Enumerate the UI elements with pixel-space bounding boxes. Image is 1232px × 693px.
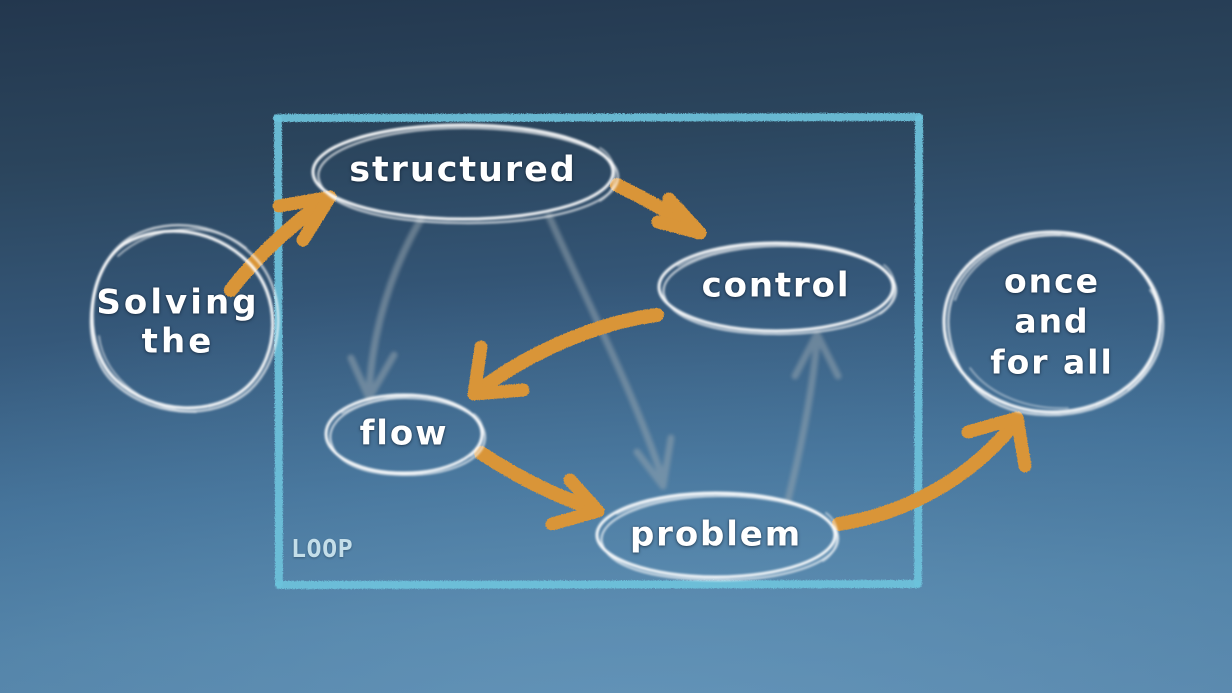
node-once[interactable] bbox=[944, 232, 1163, 415]
edge-flow-to-problem bbox=[481, 453, 598, 524]
edge-structured-to-problem bbox=[549, 216, 671, 486]
node-structured[interactable] bbox=[313, 125, 618, 223]
node-problem[interactable] bbox=[597, 493, 838, 580]
edge-structured-to-control bbox=[617, 185, 700, 233]
diagram-canvas: Solving the structured control flow prob… bbox=[0, 0, 1232, 693]
node-flow[interactable] bbox=[326, 395, 485, 475]
edge-problem-to-control bbox=[788, 334, 838, 500]
node-control[interactable] bbox=[659, 243, 896, 334]
edge-problem-to-once bbox=[839, 418, 1025, 524]
diagram-svg bbox=[0, 0, 1232, 693]
edge-structured-to-flow bbox=[351, 219, 421, 398]
edge-control-to-flow bbox=[474, 315, 657, 394]
node-solving[interactable] bbox=[91, 225, 278, 412]
